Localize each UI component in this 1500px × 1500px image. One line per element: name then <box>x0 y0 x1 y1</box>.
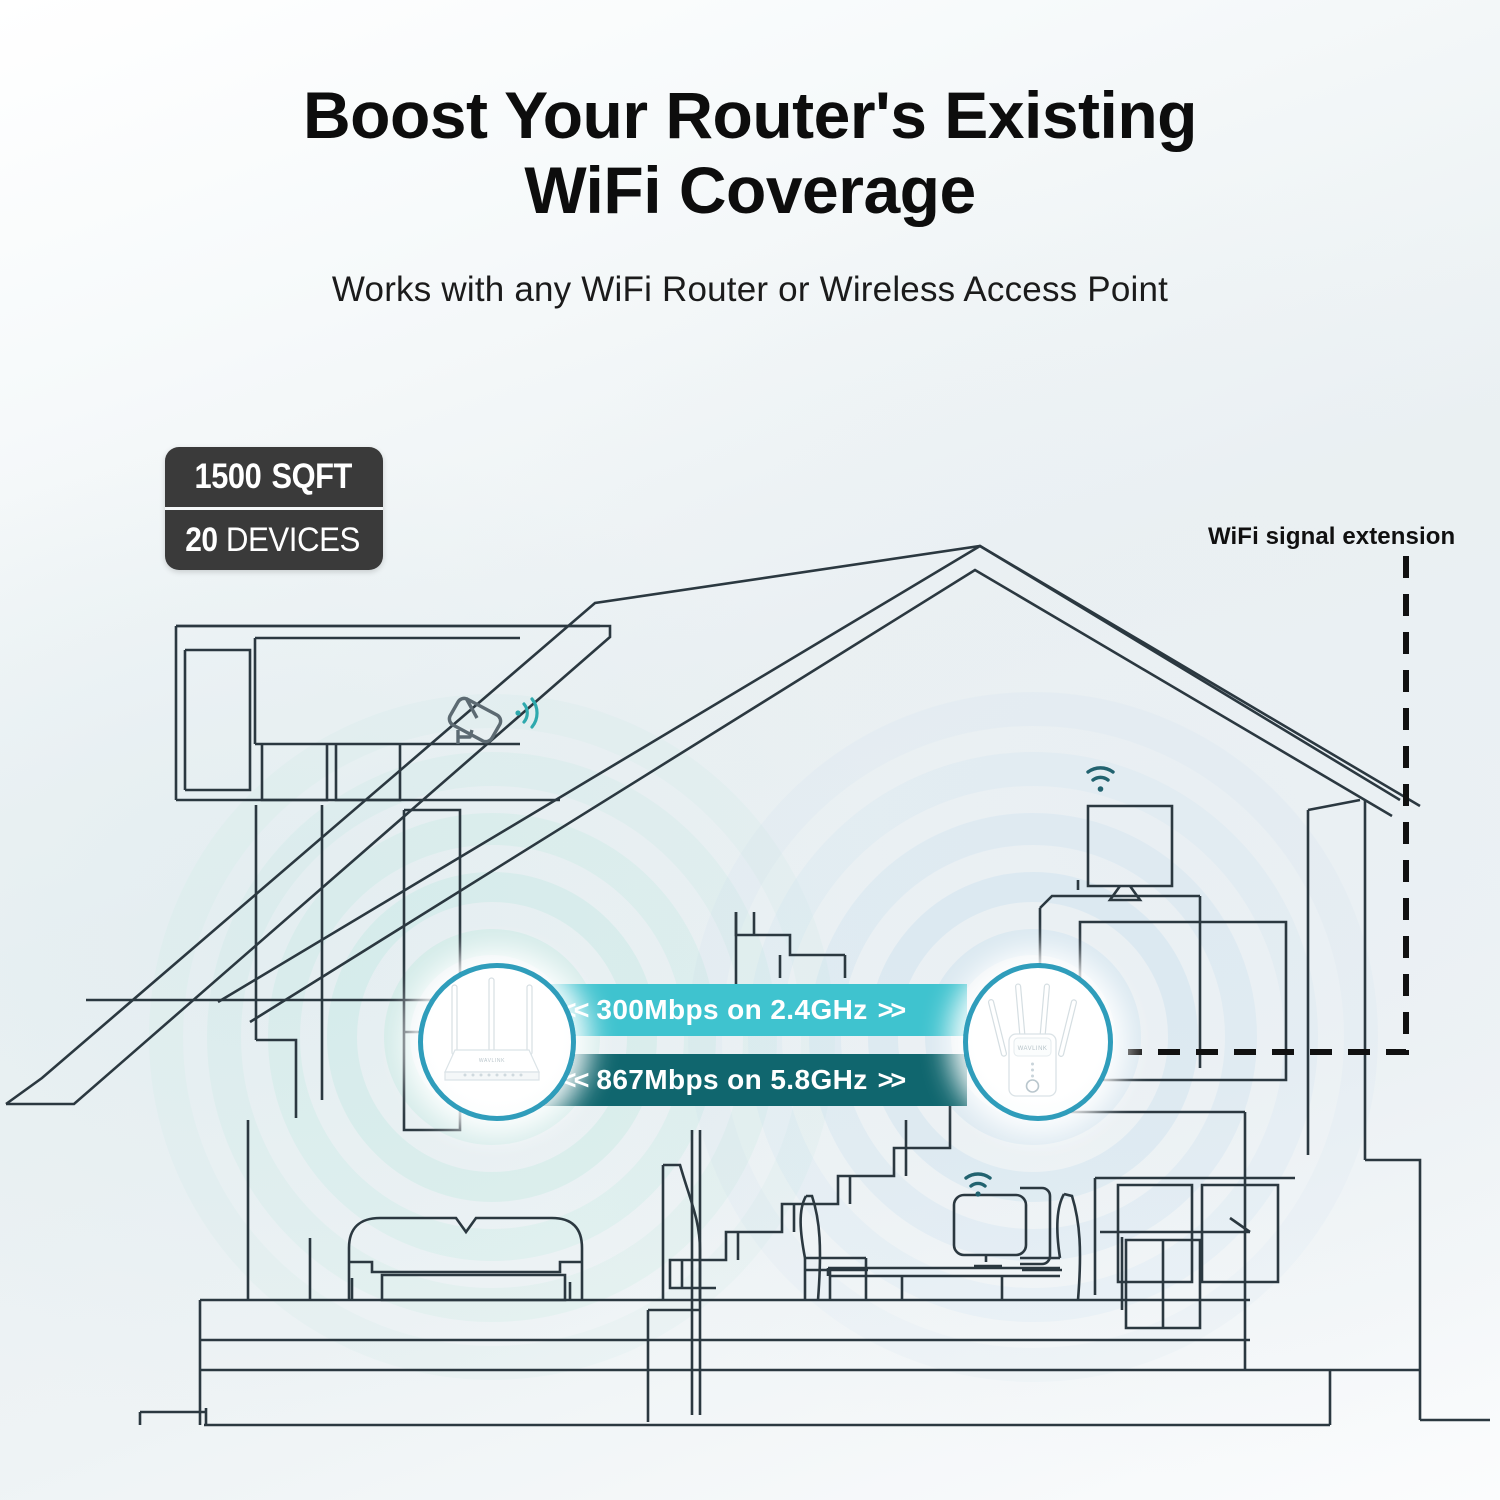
badge-coverage-row: 1500 SQFT <box>165 447 383 510</box>
headline-block: Boost Your Router's Existing WiFi Covera… <box>0 78 1500 310</box>
svg-text:WAVLINK: WAVLINK <box>479 1058 505 1064</box>
speed-bar-right-chevron-5g: >> <box>876 1065 906 1096</box>
page-subtitle: Works with any WiFi Router or Wireless A… <box>0 270 1500 310</box>
coverage-badge: 1500 SQFT 20 DEVICES <box>165 447 383 570</box>
badge-devices-row: 20 DEVICES <box>165 510 383 570</box>
badge-coverage-value: 1500 <box>195 457 262 497</box>
badge-coverage-unit: SQFT <box>272 457 352 497</box>
page-title: Boost Your Router's Existing WiFi Covera… <box>0 78 1500 228</box>
badge-devices-unit: DEVICES <box>225 521 359 560</box>
svg-text:WAVLINK: WAVLINK <box>1018 1046 1048 1052</box>
wifi-router-icon: WAVLINK <box>417 962 567 1112</box>
title-line-2: WiFi Coverage <box>0 153 1500 228</box>
title-line-1: Boost Your Router's Existing <box>303 78 1197 152</box>
wifi-range-extender-icon: WAVLINK <box>962 962 1104 1112</box>
illustration-stage: Boost Your Router's Existing WiFi Covera… <box>0 0 1500 1500</box>
speed-bar-text-5g: 867Mbps on 5.8GHz <box>588 1064 875 1096</box>
speed-bar-right-chevron-2g: >> <box>876 995 906 1026</box>
speed-bar-text-2g: 300Mbps on 2.4GHz <box>588 994 875 1026</box>
badge-devices-value: 20 <box>185 521 217 560</box>
wifi-extension-label: WiFi signal extension <box>1208 523 1455 551</box>
